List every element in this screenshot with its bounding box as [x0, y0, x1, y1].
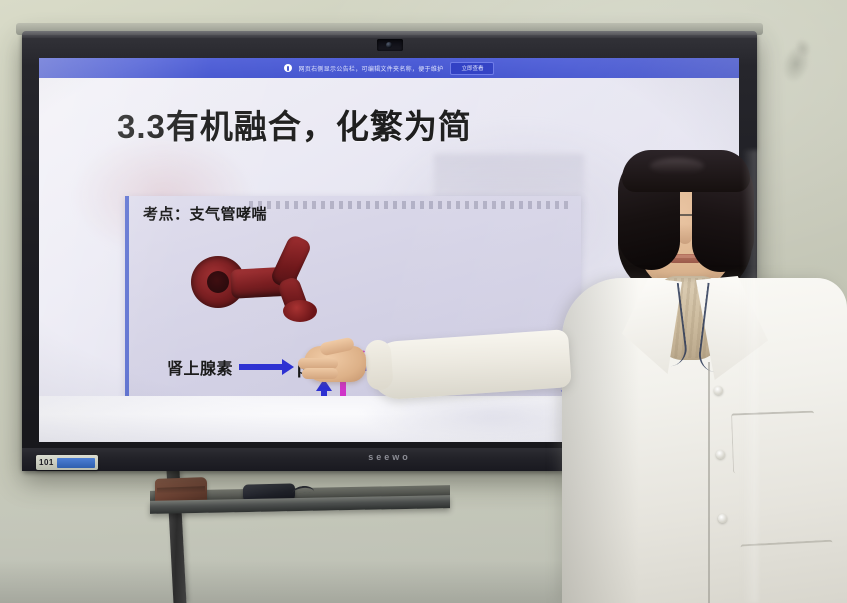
asset-tag: 101: [36, 455, 98, 470]
panel-dashed-rule: [249, 201, 569, 209]
panel-top-bezel: [22, 31, 757, 38]
finger-middle: [302, 368, 338, 379]
notification-action-button[interactable]: 立即查看: [450, 62, 494, 75]
screenshot-root: 网页右侧显示公告栏，可编辑文件夹名称，便于维护 立即查看 3.3有机融合，化繁为…: [0, 0, 847, 603]
coat-button-3: [718, 514, 727, 523]
info-icon: [284, 64, 292, 72]
asset-tag-number: 101: [39, 458, 54, 467]
coat-button-1: [714, 386, 723, 395]
coat-button-2: [716, 450, 725, 459]
notification-bar[interactable]: 网页右侧显示公告栏，可编辑文件夹名称，便于维护 立即查看: [39, 58, 739, 78]
bronchus-anatomy-illustration: [191, 234, 361, 320]
coat-trim-left: [621, 283, 689, 371]
coat-placket: [708, 362, 710, 603]
hair-highlight: [650, 158, 704, 174]
bronchus-alveolar-sac: [283, 300, 317, 322]
panel-header: 考点：支气管哮喘: [143, 203, 267, 224]
slide-title: 3.3有机融合，化繁为简: [117, 100, 472, 148]
asset-tag-chip: [57, 458, 95, 468]
pointing-hand: [294, 338, 376, 388]
notification-message: 网页右侧显示公告栏，可编辑文件夹名称，便于维护: [299, 64, 444, 73]
instructor: [556, 150, 847, 603]
webcam-icon: [377, 39, 403, 51]
rim-light: [742, 150, 758, 603]
